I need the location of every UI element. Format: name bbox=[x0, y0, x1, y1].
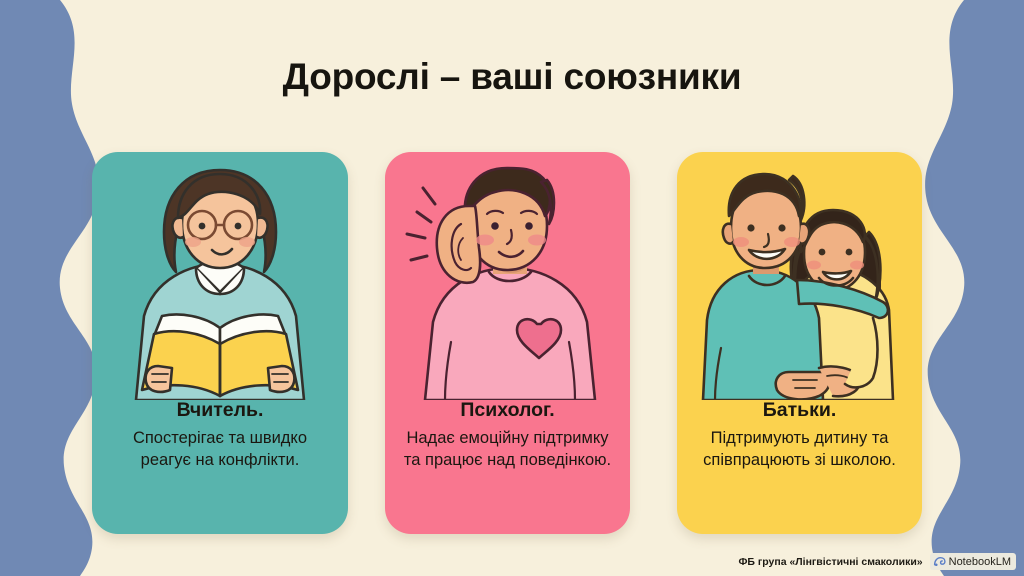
page-title: Дорослі – ваші союзники bbox=[0, 56, 1024, 98]
card-parents[interactable]: Батьки. Підтримують дитину та співпрацюю… bbox=[677, 152, 922, 534]
person-listening-ear-heart-illustration bbox=[385, 152, 630, 400]
footer: ФБ група «Лінгвістичні смаколики» Notebo… bbox=[738, 553, 1016, 570]
card-title-parents: Батьки. bbox=[685, 400, 914, 421]
card-psychologist[interactable]: Психолог. Надає емоційну підтримку та пр… bbox=[385, 152, 630, 534]
parents-couple-illustration bbox=[677, 152, 922, 400]
footer-credit: ФБ група «Лінгвістичні смаколики» bbox=[738, 556, 922, 568]
card-teacher[interactable]: Вчитель. Спостерігає та швидко реагує на… bbox=[92, 152, 348, 534]
notebooklm-badge[interactable]: NotebookLM bbox=[930, 553, 1016, 570]
card-description-psychologist: Надає емоційну підтримку та працює над п… bbox=[393, 428, 622, 471]
card-description-teacher: Спостерігає та швидко реагує на конфлікт… bbox=[100, 428, 340, 471]
card-title-psychologist: Психолог. bbox=[393, 400, 622, 421]
card-text-parents: Батьки. Підтримують дитину та співпрацюю… bbox=[685, 400, 914, 471]
card-text-psychologist: Психолог. Надає емоційну підтримку та пр… bbox=[393, 400, 622, 471]
slide-canvas: Дорослі – ваші союзники bbox=[0, 0, 1024, 576]
notebooklm-logo-icon bbox=[933, 555, 946, 568]
teacher-reading-book-illustration bbox=[92, 152, 348, 400]
card-description-parents: Підтримують дитину та співпрацюють зі шк… bbox=[685, 428, 914, 471]
card-title-teacher: Вчитель. bbox=[100, 400, 340, 421]
notebooklm-badge-label: NotebookLM bbox=[949, 556, 1011, 568]
card-text-teacher: Вчитель. Спостерігає та швидко реагує на… bbox=[100, 400, 340, 471]
